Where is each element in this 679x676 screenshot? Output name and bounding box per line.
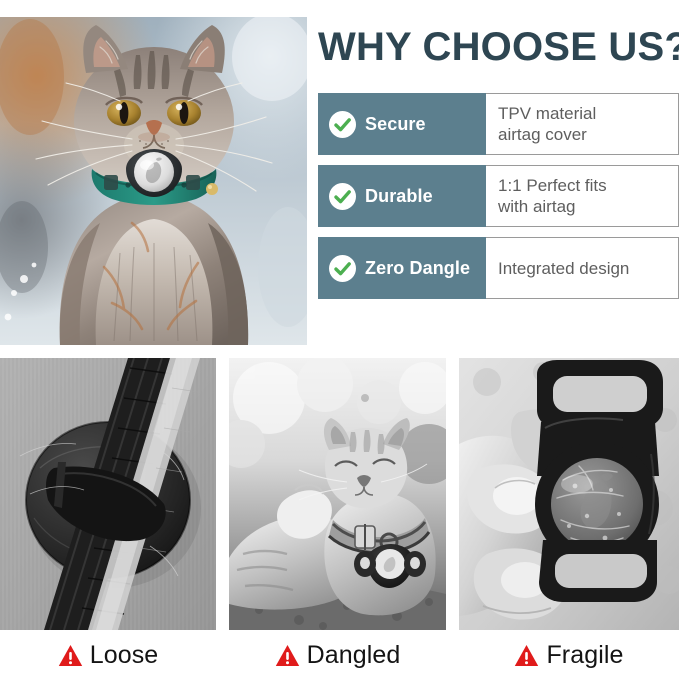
feature-description-line: Integrated design (498, 258, 629, 279)
caption-fragile: Fragile (459, 630, 679, 676)
caption-label: Dangled (307, 641, 401, 670)
comparison-item-loose: Loose (0, 358, 216, 676)
page-title: WHY CHOOSE US? (318, 24, 679, 70)
feature-description-line: TPV material (498, 103, 596, 124)
check-circle-icon (329, 255, 356, 282)
problem-comparison-grid: Loose (0, 358, 679, 676)
feature-label-cell: Zero Dangle (318, 237, 486, 299)
cat-with-dangling-holder-illustration (229, 358, 446, 630)
infographic-page: WHY CHOOSE US? Secure TPV material airta… (0, 0, 679, 676)
cat-with-airtag-collar-illustration (0, 17, 307, 345)
comparison-item-fragile: Fragile (459, 358, 679, 676)
feature-label-cell: Secure (318, 93, 486, 155)
table-row: Zero Dangle Integrated design (318, 237, 679, 299)
loose-holder-photo (0, 358, 216, 630)
caption-loose: Loose (0, 630, 216, 676)
feature-description-line: with airtag (498, 196, 607, 217)
feature-name: Zero Dangle (365, 258, 470, 279)
warning-triangle-icon (275, 644, 300, 667)
dangled-holder-photo (229, 358, 446, 630)
feature-description-line: 1:1 Perfect fits (498, 175, 607, 196)
check-circle-icon (329, 183, 356, 210)
feature-description-cell: 1:1 Perfect fits with airtag (486, 165, 679, 227)
feature-name: Secure (365, 114, 426, 135)
table-row: Secure TPV material airtag cover (318, 93, 679, 155)
hand-holding-scratched-airtag-illustration (459, 358, 679, 630)
hero-product-photo (0, 17, 307, 345)
feature-description-line: airtag cover (498, 124, 596, 145)
feature-label-cell: Durable (318, 165, 486, 227)
caption-label: Loose (90, 641, 159, 670)
caption-dangled: Dangled (229, 630, 446, 676)
fragile-holder-photo (459, 358, 679, 630)
loose-airtag-on-strap-illustration (0, 358, 216, 630)
feature-description-cell: TPV material airtag cover (486, 93, 679, 155)
warning-triangle-icon (58, 644, 83, 667)
warning-triangle-icon (514, 644, 539, 667)
check-circle-icon (329, 111, 356, 138)
feature-comparison-table: Secure TPV material airtag cover Durable… (318, 93, 679, 299)
feature-description-cell: Integrated design (486, 237, 679, 299)
caption-label: Fragile (546, 641, 623, 670)
feature-name: Durable (365, 186, 433, 207)
comparison-item-dangled: Dangled (229, 358, 446, 676)
table-row: Durable 1:1 Perfect fits with airtag (318, 165, 679, 227)
